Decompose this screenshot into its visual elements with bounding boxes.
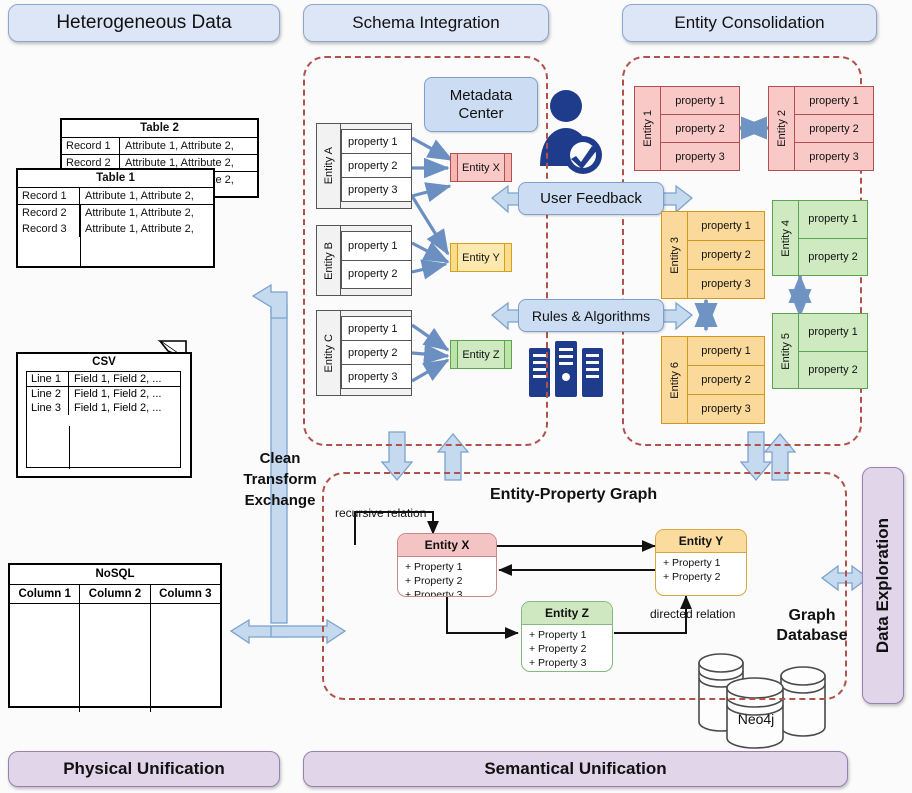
property-line: + Property 2 [529, 642, 612, 656]
entity-2-label-cell: Entity 2 [769, 87, 795, 170]
property-row: property 2 [341, 340, 411, 365]
property-line: + Property 1 [405, 560, 496, 574]
entity-3-label-cell: Entity 3 [662, 212, 688, 298]
source-entity-c-properties: property 1 property 2 property 3 [341, 311, 411, 395]
metadata-center-line-2: Center [458, 105, 503, 123]
property-line: + Property 2 [663, 570, 746, 584]
property-row: property 1 [688, 337, 764, 366]
entity-5-label: Entity 5 [780, 333, 792, 370]
consolidated-entity-5: Entity 5 property 1 property 2 [772, 313, 868, 389]
entity-6-properties: property 1 property 2 property 3 [688, 337, 764, 423]
metadata-center-callout[interactable]: Metadata Center [424, 77, 538, 132]
source-entity-b-label-cell: Entity B [317, 226, 341, 295]
property-row: property 2 [688, 366, 764, 395]
directed-relation-label: directed relation [650, 607, 735, 621]
banner-label: Semantical Unification [484, 759, 666, 779]
nosql-cell [10, 604, 80, 712]
chip-cap-right [504, 244, 511, 271]
csv-line-key: Line 1 [27, 372, 69, 386]
nosql-column-header: Column 3 [151, 585, 220, 603]
neo4j-label: Neo4j [733, 711, 779, 727]
diagram-canvas: Heterogeneous Data Schema Integration En… [0, 0, 912, 793]
target-entity-x-label: Entity X [458, 154, 504, 181]
csv-line-value: Field 1, Field 2, ... [69, 372, 166, 386]
graph-node-entity-x-title: Entity X [398, 534, 496, 557]
banner-label: Entity Consolidation [674, 13, 824, 33]
record-value: Attribute 1, Attribute 2, [120, 138, 239, 154]
table-1-title: Table 1 [18, 170, 213, 188]
record-value: Attribute 1, Attribute 2, [80, 188, 199, 204]
consolidated-entity-2: Entity 2 property 1 property 2 property … [768, 86, 874, 171]
table-row: Record 1 Attribute 1, Attribute 2, [62, 138, 257, 155]
source-entity-b-properties: property 1 property 2 [341, 226, 411, 295]
table-2-title: Table 2 [62, 120, 257, 138]
graph-database-line-1: Graph [764, 606, 860, 626]
property-row: property 1 [795, 87, 873, 115]
user-feedback-callout[interactable]: User Feedback [518, 182, 664, 215]
rules-algorithms-label: Rules & Algorithms [532, 307, 650, 325]
data-exploration-panel[interactable]: Data Exploration [862, 467, 904, 704]
entity-2-label: Entity 2 [776, 110, 788, 147]
graph-node-entity-z: Entity Z + Property 1 + Property 2 + Pro… [521, 601, 613, 672]
property-row: property 1 [341, 316, 411, 341]
property-row: property 3 [341, 364, 411, 389]
entity-4-properties: property 1 property 2 [799, 201, 867, 275]
property-row: property 1 [661, 87, 739, 115]
table-row: Record 2 Attribute 1, Attribute 2, [18, 205, 213, 221]
graph-node-entity-y-title: Entity Y [656, 530, 746, 553]
graph-database-line-2: Database [764, 626, 860, 646]
entity-1-label: Entity 1 [642, 110, 654, 147]
user-feedback-label: User Feedback [540, 190, 642, 208]
source-entity-c: Entity C property 1 property 2 property … [316, 310, 412, 396]
target-entity-z: Entity Z [450, 340, 512, 369]
record-value: Attribute 1, Attribute 2, [80, 205, 199, 221]
graph-node-entity-y: Entity Y + Property 1 + Property 2 [655, 529, 747, 596]
consolidated-entity-3: Entity 3 property 1 property 2 property … [661, 211, 765, 299]
graph-title: Entity-Property Graph [490, 486, 657, 504]
entity-4-label: Entity 4 [780, 220, 792, 257]
property-row: property 3 [795, 143, 873, 170]
consolidated-entity-4: Entity 4 property 1 property 2 [772, 200, 868, 276]
property-row: property 1 [688, 212, 764, 241]
graph-node-entity-z-properties: + Property 1 + Property 2 + Property 3 [522, 625, 612, 672]
source-entity-c-label: Entity C [323, 334, 335, 373]
target-entity-y: Entity Y [450, 243, 512, 272]
graph-node-entity-x: Entity X + Property 1 + Property 2 + Pro… [397, 533, 497, 597]
source-entity-a: Entity A property 1 property 2 property … [316, 123, 412, 209]
banner-entity-consolidation[interactable]: Entity Consolidation [622, 4, 877, 42]
source-entity-a-properties: property 1 property 2 property 3 [341, 124, 411, 208]
nosql-cell [80, 604, 150, 712]
nosql-cell [151, 604, 220, 712]
entity-4-label-cell: Entity 4 [773, 201, 799, 275]
csv-column-divider [69, 426, 70, 469]
property-row: property 2 [795, 115, 873, 143]
chip-cap-left [451, 244, 458, 271]
chip-cap-right [504, 341, 511, 368]
property-line: + Property 2 [405, 574, 496, 588]
nosql-column-header: Column 1 [10, 585, 80, 603]
property-line: + Property 3 [529, 656, 612, 670]
record-key: Record 3 [18, 221, 80, 237]
graph-node-entity-z-title: Entity Z [522, 602, 612, 625]
csv-row: Line 1 Field 1, Field 2, ... [27, 372, 180, 387]
entity-5-properties: property 1 property 2 [799, 314, 867, 388]
property-row: property 1 [799, 201, 867, 239]
nosql-body [10, 604, 220, 712]
graph-database-label: Graph Database [764, 606, 860, 646]
source-entity-b-label: Entity B [323, 242, 335, 280]
chip-cap-right [504, 154, 511, 181]
csv-line-value: Field 1, Field 2, ... [69, 387, 166, 401]
table-row: Record 1 Attribute 1, Attribute 2, [18, 188, 213, 205]
data-exploration-label: Data Exploration [873, 518, 893, 653]
property-row: property 2 [799, 239, 867, 276]
nosql-column-header: Column 2 [80, 585, 150, 603]
target-entity-y-label: Entity Y [458, 244, 504, 271]
banner-label: Heterogeneous Data [56, 12, 231, 34]
property-row: property 2 [341, 260, 411, 290]
pipeline-label: Clean Transform Exchange [232, 448, 328, 511]
csv-row: Line 3 Field 1, Field 2, ... [27, 401, 180, 415]
record-key: Record 2 [18, 205, 80, 221]
source-entity-a-label-cell: Entity A [317, 124, 341, 208]
property-line: + Property 3 [405, 588, 496, 597]
record-value: Attribute 1, Attribute 2, [80, 221, 199, 237]
nosql-header-row: Column 1 Column 2 Column 3 [10, 585, 220, 604]
property-row: property 3 [661, 143, 739, 170]
consolidated-entity-1: Entity 1 property 1 property 2 property … [634, 86, 740, 171]
property-row: property 3 [688, 395, 764, 423]
banner-label: Schema Integration [352, 13, 499, 33]
property-row: property 2 [799, 352, 867, 389]
graph-node-entity-y-properties: + Property 1 + Property 2 [656, 553, 746, 588]
entity-6-label-cell: Entity 6 [662, 337, 688, 423]
entity-3-label: Entity 3 [669, 237, 681, 274]
table-1: Table 1 Record 1 Attribute 1, Attribute … [16, 168, 215, 268]
csv-title: CSV [18, 354, 190, 368]
entity-1-properties: property 1 property 2 property 3 [661, 87, 739, 170]
source-entity-c-label-cell: Entity C [317, 311, 341, 395]
rules-algorithms-callout[interactable]: Rules & Algorithms [518, 299, 664, 332]
csv-table: Line 1 Field 1, Field 2, ... Line 2 Fiel… [26, 371, 181, 468]
banner-heterogeneous-data[interactable]: Heterogeneous Data [8, 4, 280, 42]
source-entity-a-label: Entity A [323, 147, 335, 184]
csv-line-value: Field 1, Field 2, ... [69, 401, 166, 415]
entity-2-properties: property 1 property 2 property 3 [795, 87, 873, 170]
target-entity-x: Entity X [450, 153, 512, 182]
pipeline-label-line-2: Transform [232, 469, 328, 490]
target-entity-z-label: Entity Z [458, 341, 504, 368]
banner-label: Physical Unification [63, 759, 225, 779]
nosql-table: NoSQL Column 1 Column 2 Column 3 [8, 563, 222, 708]
nosql-title: NoSQL [10, 565, 220, 585]
entity-3-properties: property 1 property 2 property 3 [688, 212, 764, 298]
property-line: + Property 1 [529, 628, 612, 642]
banner-schema-integration[interactable]: Schema Integration [303, 4, 549, 42]
property-row: property 2 [661, 115, 739, 143]
pipeline-label-line-1: Clean [232, 448, 328, 469]
banner-physical-unification[interactable]: Physical Unification [8, 751, 280, 787]
entity-5-label-cell: Entity 5 [773, 314, 799, 388]
pipeline-label-line-3: Exchange [232, 490, 328, 511]
property-row: property 2 [341, 153, 411, 178]
source-entity-b: Entity B property 1 property 2 [316, 225, 412, 296]
table-1-empty-cell [80, 204, 81, 268]
table-row: Record 3 Attribute 1, Attribute 2, [18, 221, 213, 237]
record-key: Record 1 [18, 188, 80, 204]
csv-line-key: Line 3 [27, 401, 69, 415]
chip-cap-left [451, 154, 458, 181]
property-row: property 3 [341, 177, 411, 202]
property-row: property 1 [341, 129, 411, 154]
metadata-center-line-1: Metadata [450, 87, 513, 105]
property-row: property 1 [341, 231, 411, 261]
property-row: property 3 [688, 270, 764, 298]
entity-6-label: Entity 6 [669, 362, 681, 399]
property-row: property 2 [688, 241, 764, 270]
graph-node-entity-x-properties: + Property 1 + Property 2 + Property 3 [398, 557, 496, 597]
record-key: Record 1 [62, 138, 120, 154]
csv-line-key: Line 2 [27, 387, 69, 401]
entity-1-label-cell: Entity 1 [635, 87, 661, 170]
recursive-relation-label: recursive relation [335, 506, 426, 520]
user-check-icon [540, 90, 602, 174]
property-row: property 1 [799, 314, 867, 352]
consolidated-entity-6: Entity 6 property 1 property 2 property … [661, 336, 765, 424]
property-line: + Property 1 [663, 556, 746, 570]
csv-row: Line 2 Field 1, Field 2, ... [27, 387, 180, 401]
banner-semantical-unification[interactable]: Semantical Unification [303, 751, 848, 787]
chip-cap-left [451, 341, 458, 368]
